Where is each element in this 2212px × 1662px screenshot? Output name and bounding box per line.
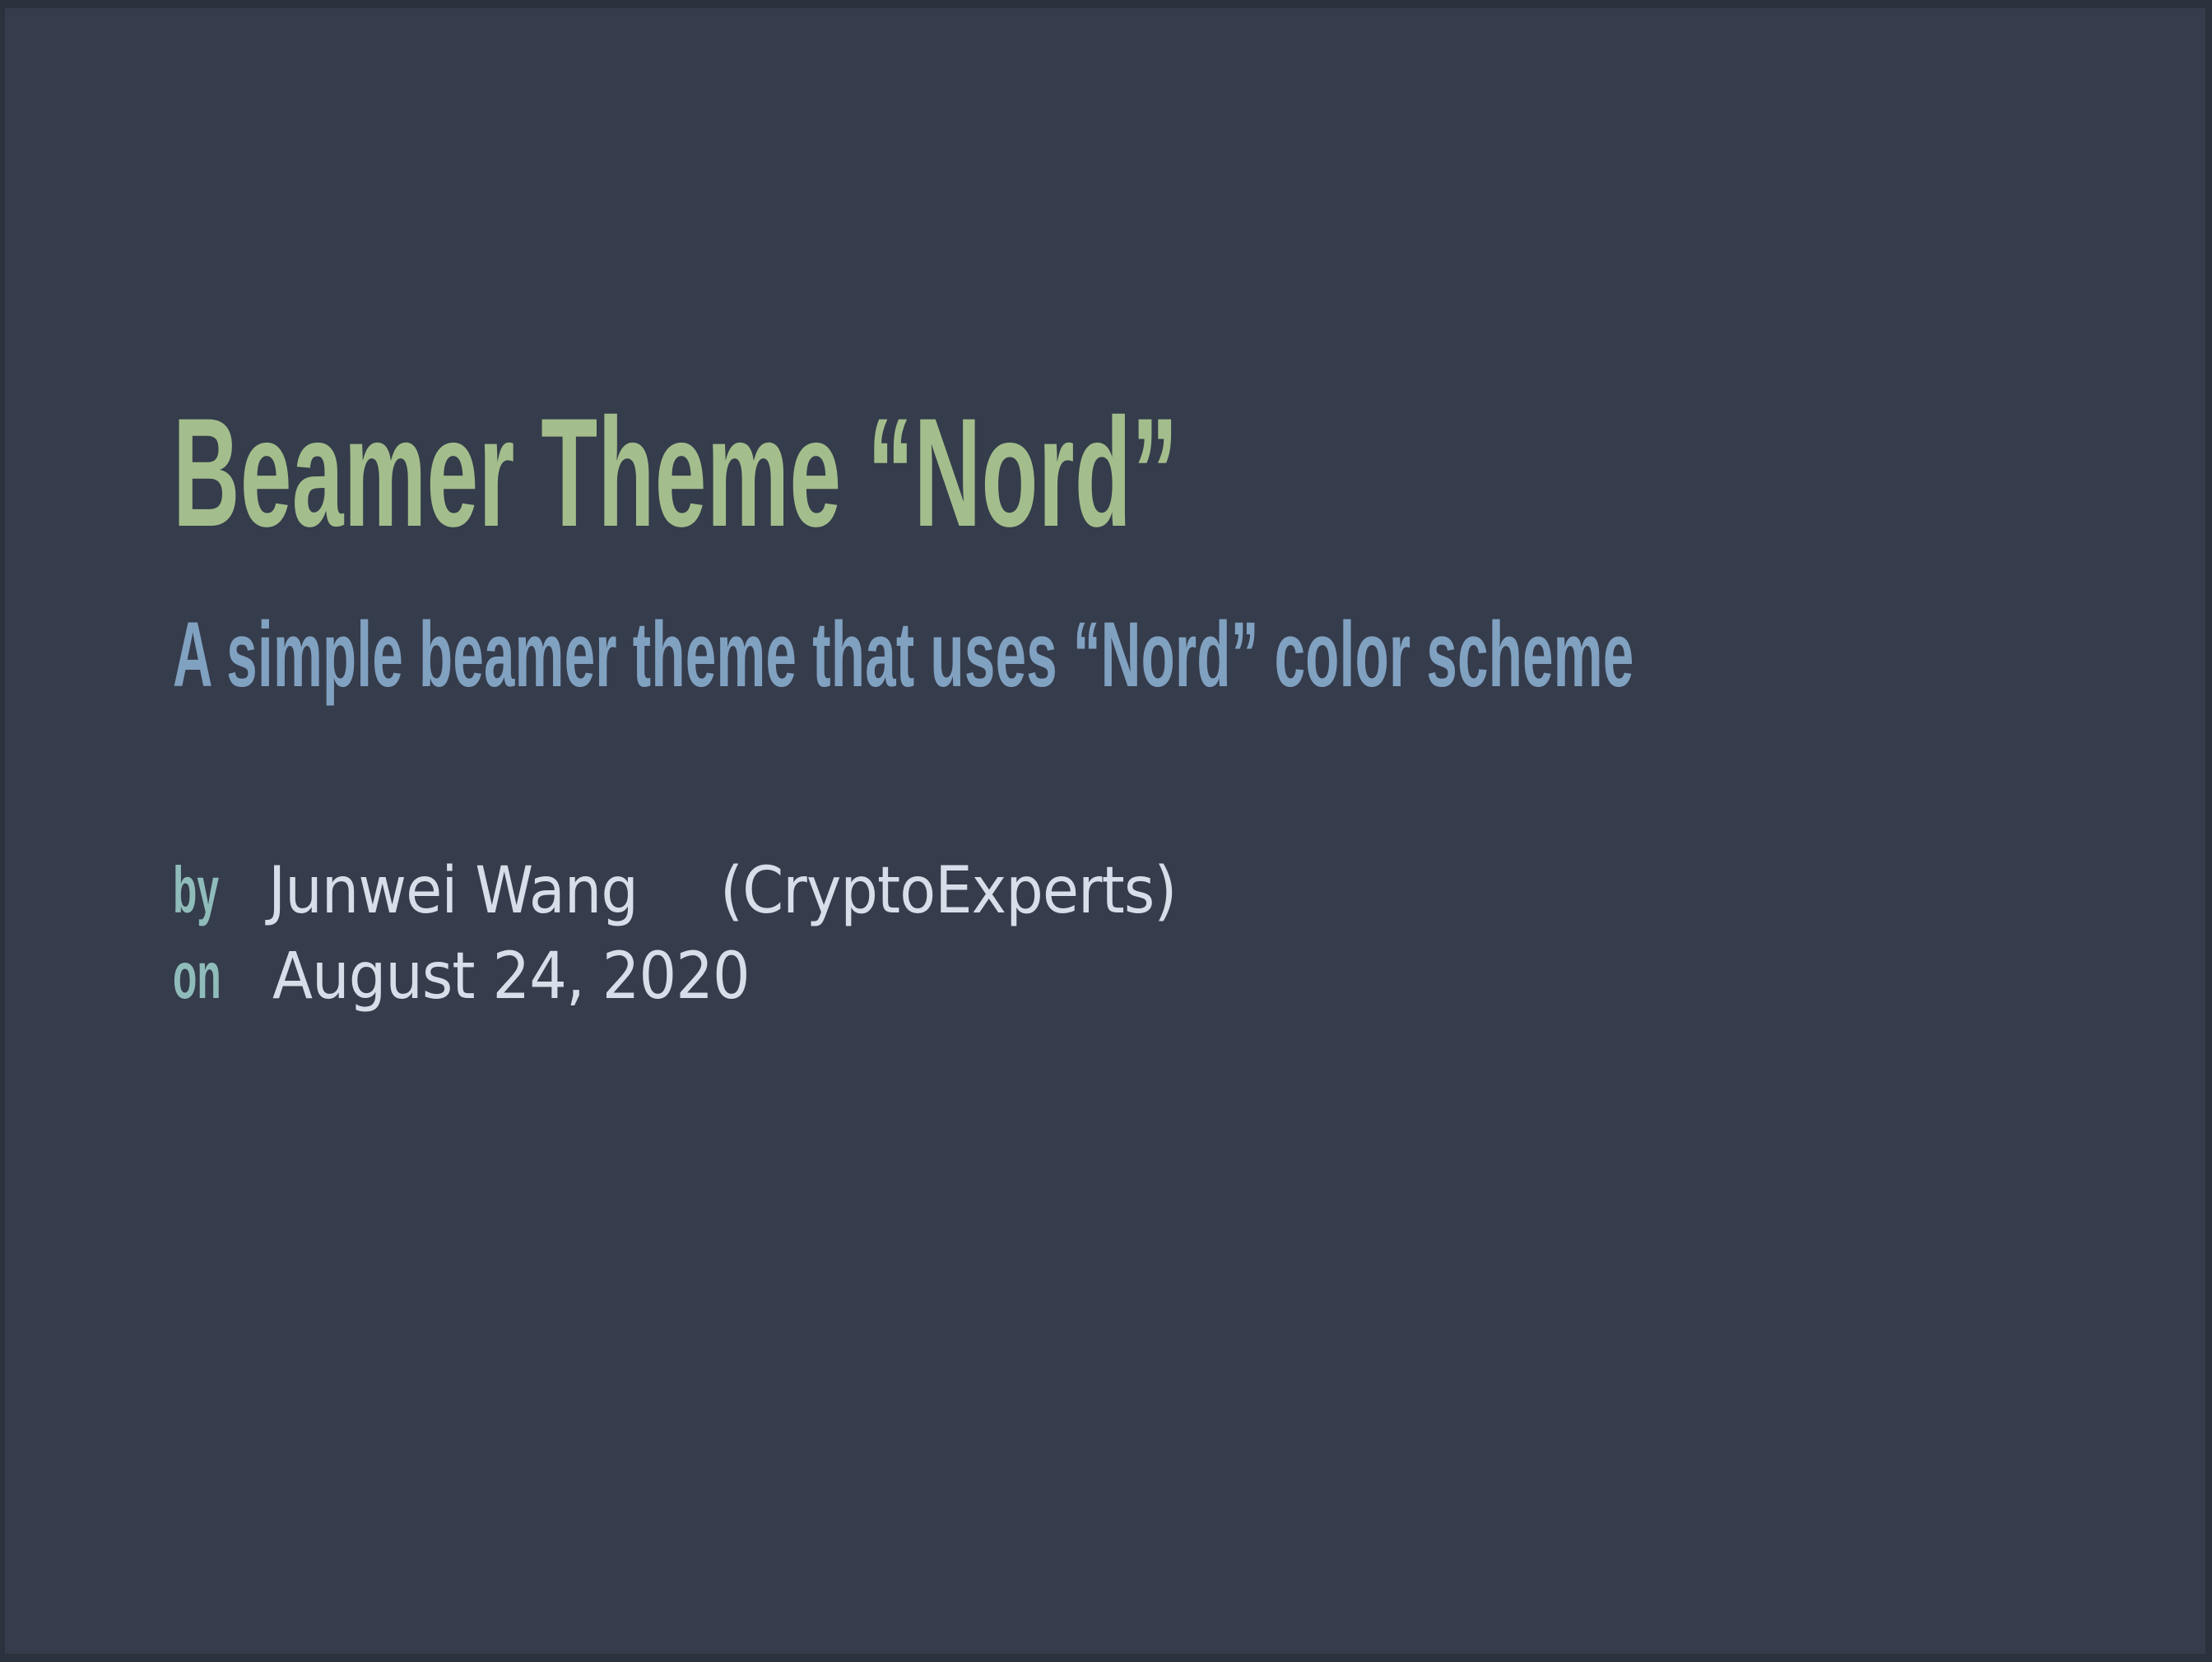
page-title: Beamer Theme “Nord” — [173, 395, 1178, 550]
author-row: by Junwei Wang (CryptoExperts) — [173, 852, 2066, 938]
subtitle-line: A simple beamer theme that uses “Nord” c… — [173, 609, 2066, 713]
meta-block: by Junwei Wang (CryptoExperts) on August… — [173, 852, 2066, 1024]
slide-canvas: Beamer Theme “Nord” A simple beamer them… — [0, 0, 2212, 1662]
date-row: on August 24, 2020 — [173, 938, 2066, 1024]
page-subtitle: A simple beamer theme that uses “Nord” c… — [173, 609, 1633, 701]
date-key-label: on — [173, 938, 221, 1014]
date-value: August 24, 2020 — [272, 940, 750, 1014]
author-name: Junwei Wang — [268, 854, 638, 928]
author-key-label: by — [173, 852, 219, 928]
title-block: Beamer Theme “Nord” A simple beamer them… — [173, 395, 2066, 713]
title-line: Beamer Theme “Nord” — [173, 395, 2066, 540]
author-affiliation: (CryptoExperts) — [720, 854, 1176, 928]
